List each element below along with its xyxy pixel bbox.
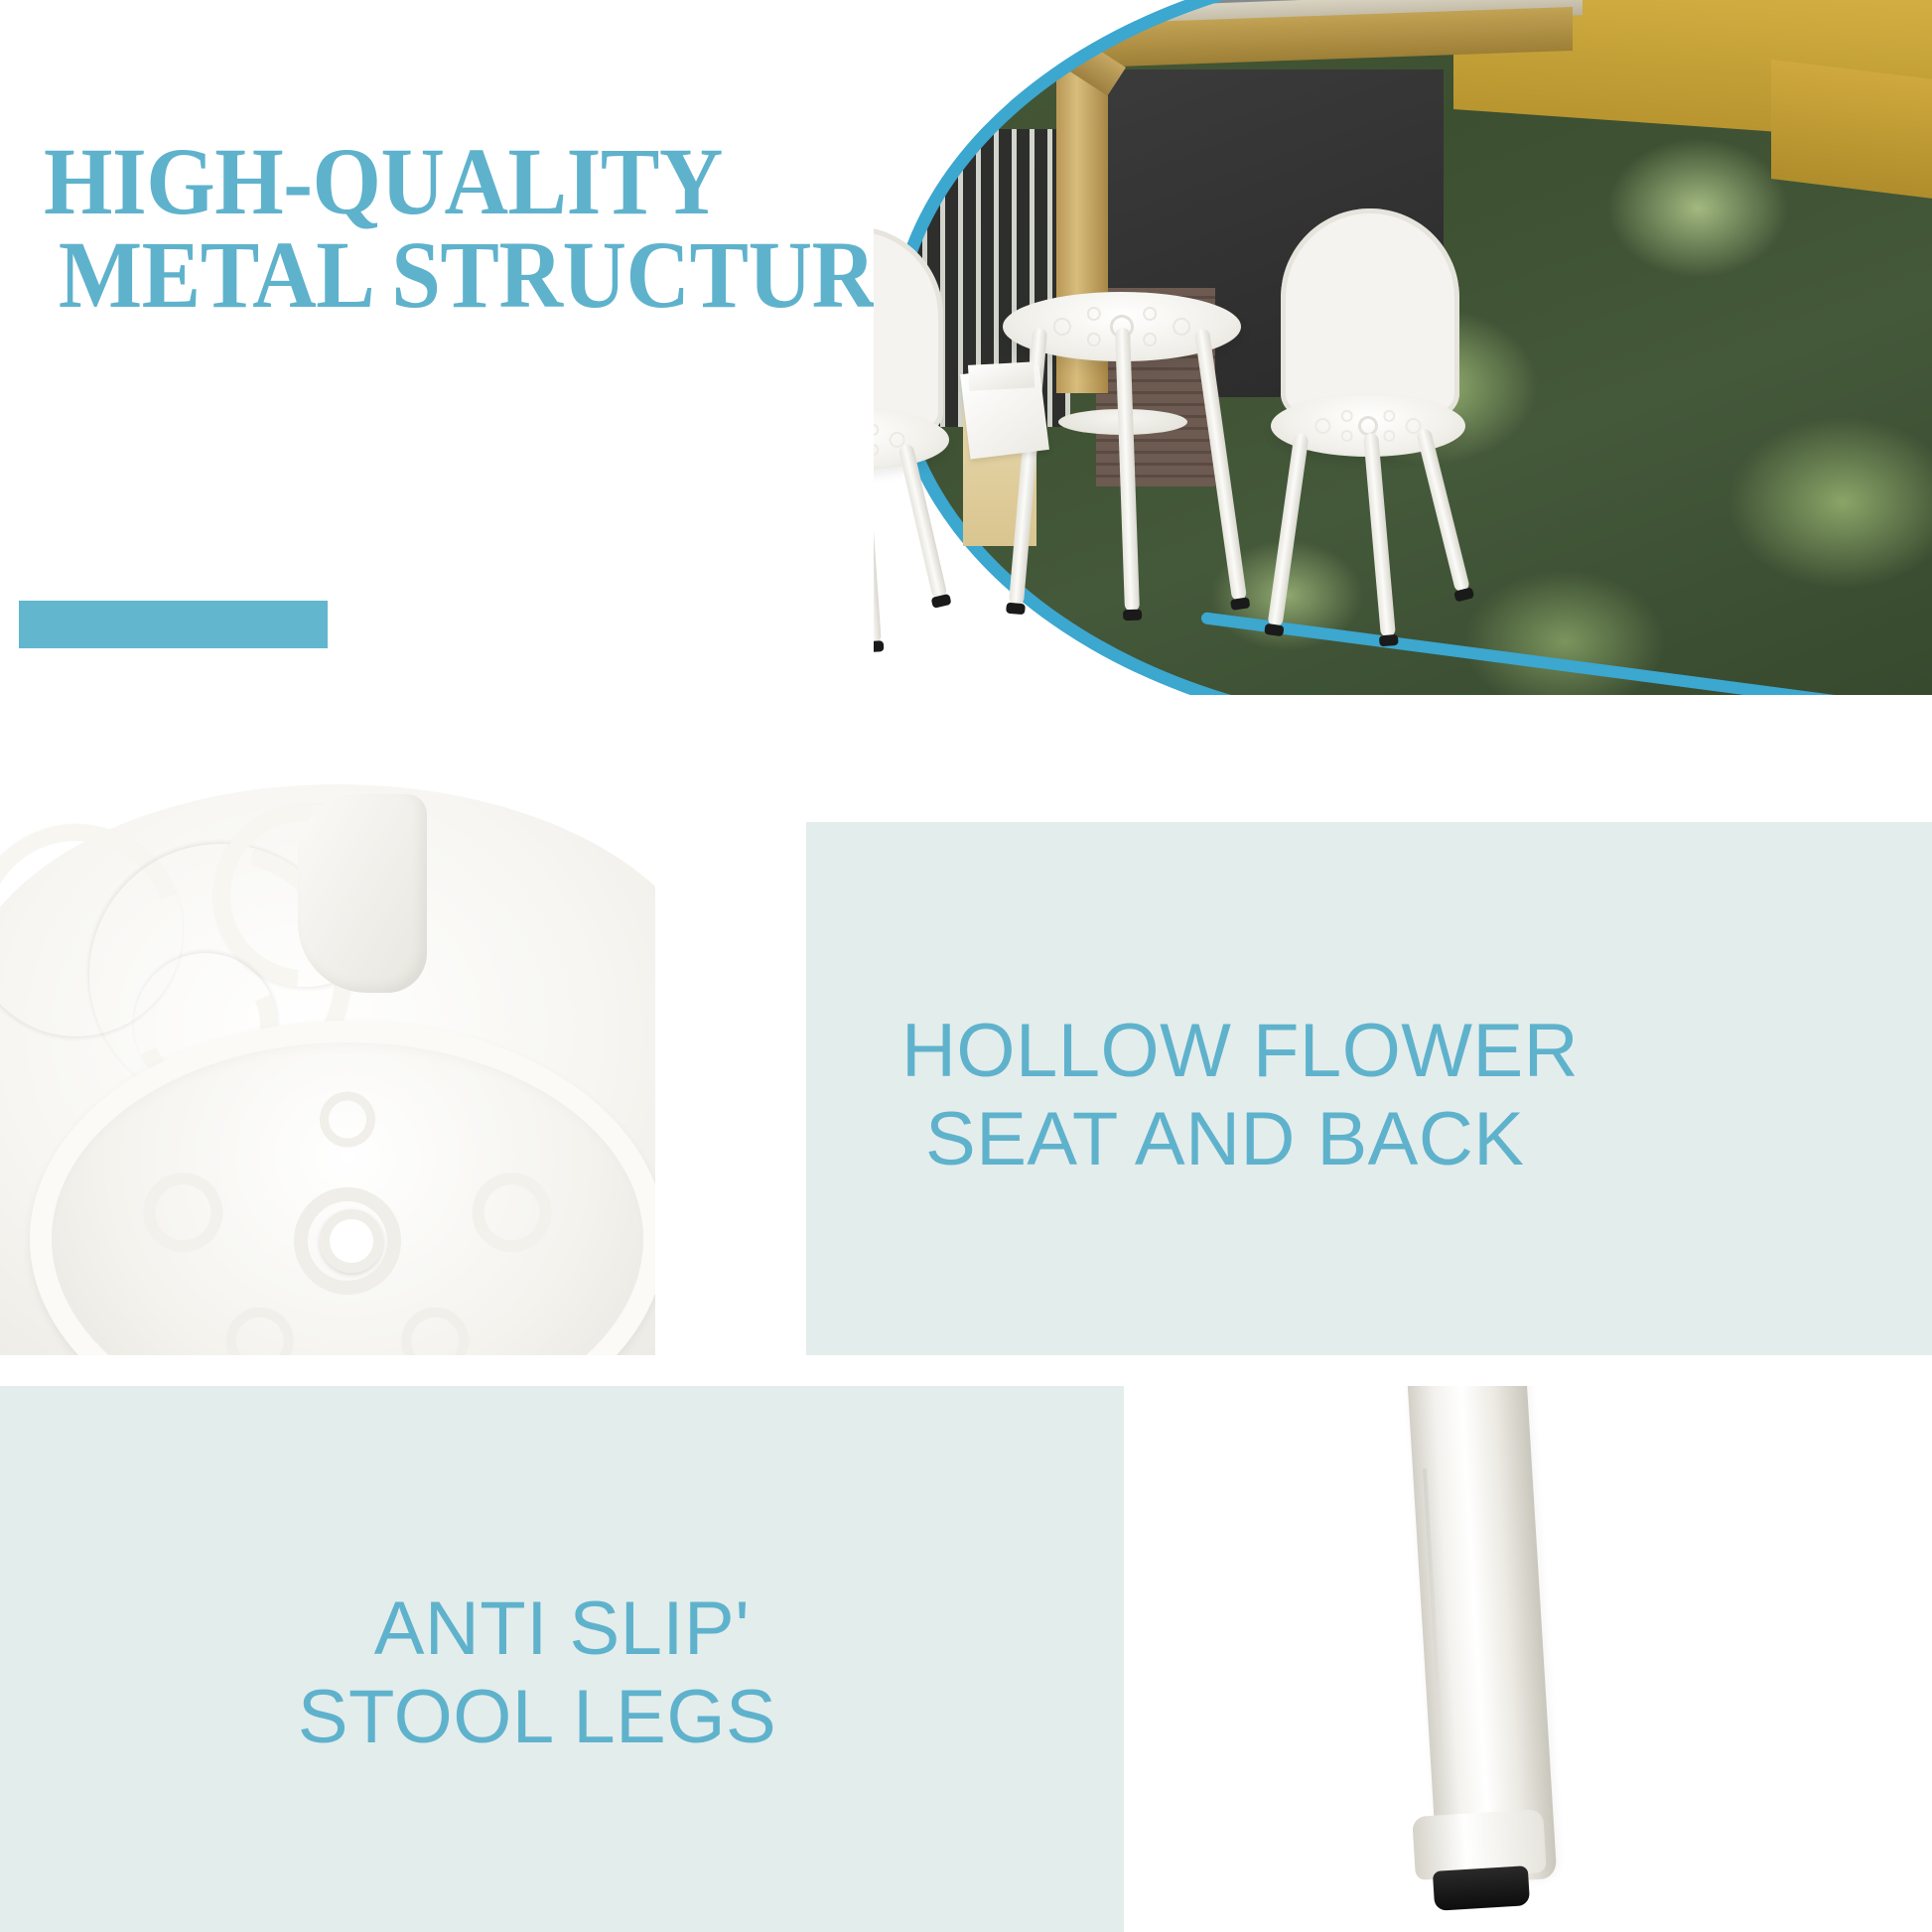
table-leg-right [1194,328,1247,601]
infographic-stage: HIGH-QUALITY METAL STRUCTURES [0,0,1932,1932]
section-hollow-flower-seat-and-back: HOLLOW FLOWER SEAT AND BACK [0,822,1932,1355]
title-anti-slip-stool-legs: ANTI SLIP' STOOL LEGS [0,1586,1124,1762]
chair-right-leg-rear [1416,428,1470,594]
decorative-bar-1 [19,601,328,648]
chair-left-backrest [874,226,943,435]
furniture-group [874,0,1932,822]
anti-slip-foot-cap [1433,1865,1530,1911]
mint-panel-bottom: ANTI SLIP' STOOL LEGS [0,1386,1124,1932]
bot-title-line-1: ANTI SLIP' [374,1587,751,1671]
chair-left-leg-rear [897,443,947,599]
chair-armrest-joint [298,794,427,993]
chair-right-leg-front-right [1363,433,1396,638]
headline-line-2: METAL STRUCTURES [44,228,948,322]
chair-right-backrest [1281,208,1459,417]
chair-leg-closeup-photo [1124,1386,1932,1932]
title-hollow-flower-seat-and-back: HOLLOW FLOWER SEAT AND BACK [901,1008,1874,1184]
table-leg-center [1115,328,1140,612]
mid-title-line-2: SEAT AND BACK [901,1096,1874,1184]
chair-right-leg-front-left [1267,433,1309,627]
mint-panel-middle: HOLLOW FLOWER SEAT AND BACK [806,822,1932,1355]
folded-napkin [960,364,1049,459]
seat-center-hub [320,1209,383,1273]
section-anti-slip-stool-legs: ANTI SLIP' STOOL LEGS [0,1386,1932,1932]
bistro-set-photo-clip [874,0,1932,822]
mid-title-line-1: HOLLOW FLOWER [901,1009,1579,1093]
headline-line-1: HIGH-QUALITY [44,128,723,234]
bot-title-line-2: STOOL LEGS [0,1674,1124,1762]
chair-left-leg-front-right [874,449,882,644]
bistro-set-photo [874,0,1932,822]
headline-high-quality-metal-structures: HIGH-QUALITY METAL STRUCTURES [44,135,948,322]
scrollwork-closeup-photo [0,655,655,1355]
